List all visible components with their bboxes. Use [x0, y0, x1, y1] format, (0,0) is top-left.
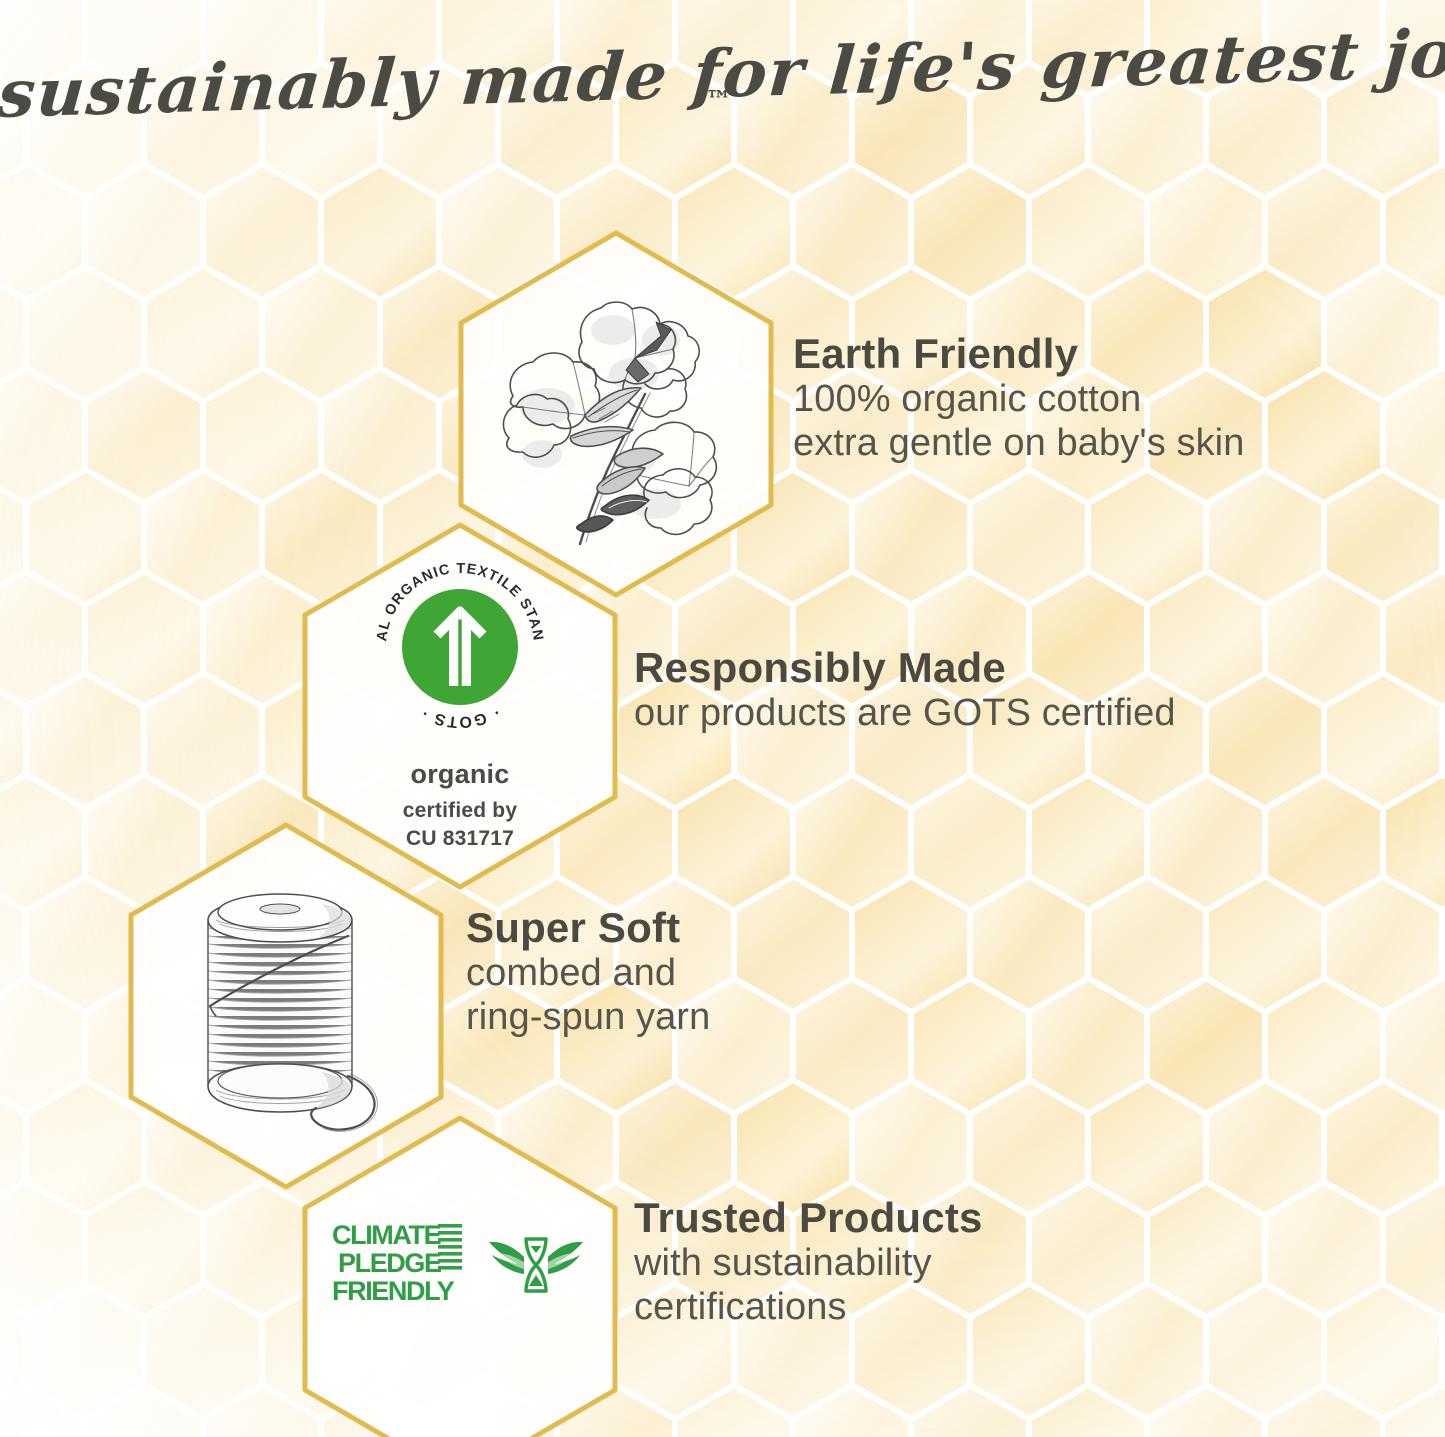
- feature-hexagon-trusted-products: CLIMATE PLEDGE FRIENDLY: [296, 1113, 624, 1437]
- feature-text-super-soft: Super Soft combed and ring-spun yarn: [466, 906, 710, 1040]
- honeycomb-cell: [88, 575, 200, 704]
- honeycomb-cell: [0, 575, 82, 704]
- honeycomb-cell: [29, 473, 141, 602]
- honeycomb-cell: [1209, 473, 1321, 602]
- honeycomb-cell: [678, 778, 790, 907]
- honeycomb-cell: [1150, 168, 1262, 297]
- page-headline: sustainably made for life's greatest joy…: [0, 34, 1445, 146]
- honeycomb-cell: [914, 168, 1026, 297]
- feature-title: Super Soft: [466, 906, 710, 951]
- honeycomb-cell: [1268, 168, 1380, 297]
- feature-subline-2: certifications: [634, 1285, 983, 1330]
- honeycomb-cell: [1091, 880, 1203, 1009]
- feature-text-trusted-products: Trusted Products with sustainability cer…: [634, 1196, 983, 1330]
- gots-organic-certification-logo: GLOBAL ORGANIC TEXTILE STANDARD · GOTS ·…: [362, 549, 558, 851]
- feature-title: Responsibly Made: [634, 646, 1176, 691]
- gots-organic-label: organic: [411, 759, 510, 790]
- cpf-line-2: PLEDGE: [338, 1248, 441, 1278]
- honeycomb-cell: [1209, 880, 1321, 1009]
- honeycomb-cell: [1150, 778, 1262, 907]
- honeycomb-cell: [1268, 778, 1380, 907]
- gots-seal: GLOBAL ORGANIC TEXTILE STANDARD · GOTS ·: [362, 549, 558, 745]
- honeycomb-cell: [855, 473, 967, 602]
- honeycomb-cell: [1327, 269, 1439, 398]
- honeycomb-cell: [1209, 1287, 1321, 1416]
- infographic-canvas: sustainably made for life's greatest joy…: [0, 0, 1445, 1437]
- honeycomb-cell: [0, 778, 82, 907]
- honeycomb-cell: [1268, 575, 1380, 704]
- honeycomb-cell: [855, 880, 967, 1009]
- honeycomb-cell: [1327, 473, 1439, 602]
- honeycomb-cell: [29, 676, 141, 805]
- feature-subline-1: combed and: [466, 951, 710, 996]
- honeycomb-cell: [29, 269, 141, 398]
- honeycomb-cell: [855, 1083, 967, 1212]
- honeycomb-cell: [1209, 1083, 1321, 1212]
- honeycomb-cell: [29, 1287, 141, 1416]
- honeycomb-cell: [914, 982, 1026, 1111]
- honeycomb-cell: [147, 1287, 259, 1416]
- honeycomb-cell: [206, 371, 318, 500]
- honeycomb-cell: [914, 778, 1026, 907]
- cpf-line-3: FRIENDLY: [332, 1276, 455, 1306]
- gots-arc-text-bottom: · GOTS ·: [418, 703, 503, 730]
- honeycomb-cell: [1327, 1287, 1439, 1416]
- honeycomb-cell: [1268, 1185, 1380, 1314]
- honeycomb-cell: [0, 371, 82, 500]
- honeycomb-cell: [796, 778, 908, 907]
- feature-subline-1: our products are GOTS certified: [634, 691, 1176, 736]
- honeycomb-cell: [88, 1185, 200, 1314]
- honeycomb-cell: [1032, 778, 1144, 907]
- gots-green-disc: [402, 589, 518, 705]
- honeycomb-cell: [973, 1083, 1085, 1212]
- cpf-wordmark: CLIMATE PLEDGE FRIENDLY: [332, 1218, 468, 1316]
- honeycomb-cell: [796, 168, 908, 297]
- honeycomb-cell: [973, 473, 1085, 602]
- cpf-stripe-bars: [438, 1224, 462, 1270]
- thread-spool-sketch-icon: [172, 876, 404, 1148]
- feature-title: Earth Friendly: [793, 332, 1244, 377]
- honeycomb-cell: [147, 473, 259, 602]
- honeycomb-cell: [1327, 880, 1439, 1009]
- honeycomb-cell: [1327, 1083, 1439, 1212]
- honeycomb-cell: [737, 880, 849, 1009]
- honeycomb-cell: [737, 1083, 849, 1212]
- honeycomb-cell: [1209, 676, 1321, 805]
- honeycomb-cell: [1032, 168, 1144, 297]
- honeycomb-cell: [147, 676, 259, 805]
- honeycomb-cell: [1150, 1185, 1262, 1314]
- trademark-symbol: ™: [706, 86, 732, 116]
- feature-subline-2: extra gentle on baby's skin: [793, 421, 1244, 466]
- honeycomb-cell: [1032, 1185, 1144, 1314]
- honeycomb-cell: [1268, 982, 1380, 1111]
- feature-subline-1: with sustainability: [634, 1241, 983, 1286]
- feature-title: Trusted Products: [634, 1196, 983, 1241]
- honeycomb-cell: [1032, 982, 1144, 1111]
- honeycomb-cell: [88, 168, 200, 297]
- honeycomb-cell: [0, 168, 82, 297]
- honeycomb-cell: [324, 371, 436, 500]
- honeycomb-cell: [0, 1185, 82, 1314]
- honeycomb-cell: [973, 1287, 1085, 1416]
- honeycomb-cell: [0, 982, 82, 1111]
- honeycomb-cell: [973, 880, 1085, 1009]
- climate-pledge-friendly-logo: CLIMATE PLEDGE FRIENDLY: [332, 1218, 588, 1316]
- honeycomb-cell: [796, 982, 908, 1111]
- honeycomb-cell: [1268, 371, 1380, 500]
- honeycomb-cell: [206, 168, 318, 297]
- honeycomb-cell: [619, 1083, 731, 1212]
- honeycomb-cell: [147, 269, 259, 398]
- cpf-line-1: CLIMATE: [332, 1220, 441, 1250]
- honeycomb-cell: [1327, 676, 1439, 805]
- feature-subline-2: ring-spun yarn: [466, 995, 710, 1040]
- honeycomb-cell: [1150, 982, 1262, 1111]
- honeycomb-cell: [1091, 1083, 1203, 1212]
- feature-text-earth-friendly: Earth Friendly 100% organic cotton extra…: [793, 332, 1244, 466]
- feature-text-responsibly-made: Responsibly Made our products are GOTS c…: [634, 646, 1176, 735]
- honeycomb-cell: [88, 371, 200, 500]
- honeycomb-cell: [1091, 1287, 1203, 1416]
- feature-subline-1: 100% organic cotton: [793, 377, 1244, 422]
- hexagon-content: CLIMATE PLEDGE FRIENDLY: [296, 1113, 624, 1437]
- winged-hourglass-icon: [484, 1229, 588, 1305]
- honeycomb-cell: [265, 269, 377, 398]
- honeycomb-cell: [1091, 473, 1203, 602]
- cotton-boll-sketch-icon: [485, 278, 747, 550]
- honeycomb-cell: [324, 168, 436, 297]
